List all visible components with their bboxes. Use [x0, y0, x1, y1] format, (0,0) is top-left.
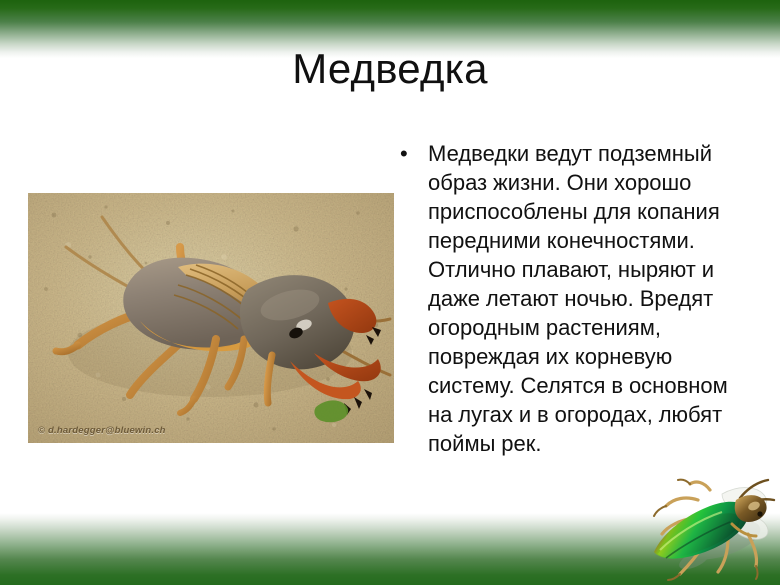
content-text-block: • Медведки ведут подземный образ жизни. … [400, 139, 756, 458]
mole-cricket-photo: © d.hardegger@bluewin.ch [28, 193, 394, 443]
photo-credit-watermark: © d.hardegger@bluewin.ch [38, 425, 166, 436]
beetle-head [735, 495, 767, 522]
beetle-body [654, 502, 748, 559]
bottom-gradient-band [0, 513, 780, 585]
list-item: • Медведки ведут подземный образ жизни. … [400, 139, 756, 458]
beetle-icon [636, 478, 780, 585]
bullet-icon: • [400, 139, 428, 168]
mole-cricket-illustration [28, 193, 394, 443]
page-title: Медведка [0, 44, 780, 94]
presentation-slide: Медведка [0, 0, 780, 585]
jewel-beetle-decoration [636, 478, 780, 585]
list-item-text: Медведки ведут подземный образ жизни. Он… [428, 139, 756, 458]
